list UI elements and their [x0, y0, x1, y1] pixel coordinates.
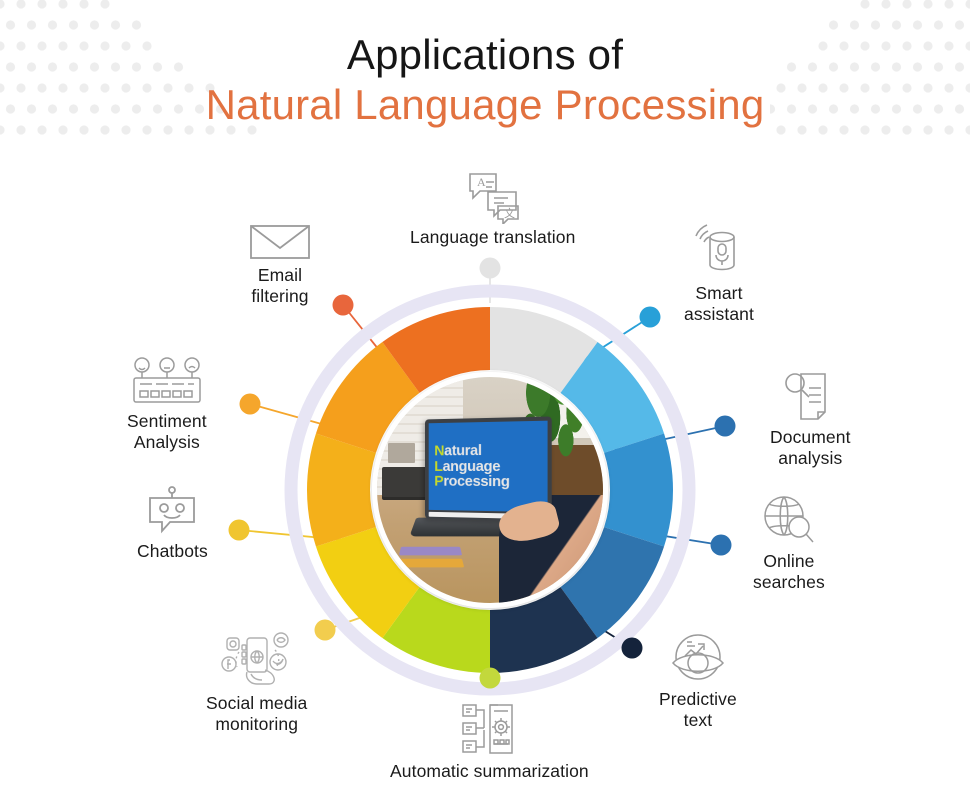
wheel-label-text-predictive-text: Predictive text [659, 689, 737, 732]
wheel-label-text-smart-assistant: Smart assistant [684, 283, 754, 326]
svg-text:文: 文 [504, 206, 515, 220]
globe-magnifier-icon [760, 494, 818, 548]
document-search-icon [781, 368, 839, 424]
translate-chat-icon: A 文 [462, 168, 524, 224]
donut-segment-chatbots [307, 433, 376, 546]
screen-line-1-rest: atural [444, 442, 482, 459]
connector-dot-email-filtering[interactable] [333, 295, 354, 316]
wheel-label-text-language-translation: Language translation [410, 227, 575, 248]
wheel-label-sentiment-analysis[interactable]: Sentiment Analysis [127, 356, 207, 454]
page-title: Applications of Natural Language Process… [0, 30, 970, 129]
connector-dot-online-searches[interactable] [711, 535, 732, 556]
connector-dot-smart-assistant[interactable] [640, 307, 661, 328]
wheel-label-text-online-searches: Online searches [753, 551, 825, 594]
wheel-label-text-sentiment-analysis: Sentiment Analysis [127, 411, 207, 454]
connector-dot-language-translation[interactable] [480, 258, 501, 279]
center-photo: Natural Language Processing [372, 372, 608, 608]
wheel-label-chatbots[interactable]: Chatbots [137, 484, 208, 562]
connector-dot-automatic-summarization[interactable] [480, 668, 501, 689]
wheel-label-text-email-filtering: Email filtering [251, 265, 308, 308]
envelope-icon [249, 222, 311, 262]
eye-trend-icon [667, 632, 729, 686]
screen-line-2-rest: anguage [443, 457, 501, 474]
wheel-label-text-chatbots: Chatbots [137, 541, 208, 562]
wheel-label-online-searches[interactable]: Online searches [753, 494, 825, 594]
wheel-label-email-filtering[interactable]: Email filtering [249, 222, 311, 308]
connector-dot-document-analysis[interactable] [715, 416, 736, 437]
robot-head-icon [142, 484, 202, 538]
connector-dot-sentiment-analysis[interactable] [240, 394, 261, 415]
connector-dot-chatbots[interactable] [229, 520, 250, 541]
wheel-label-text-document-analysis: Document analysis [770, 427, 851, 470]
screen-line-3-rest: rocessing [444, 473, 510, 490]
wheel-label-language-translation[interactable]: A 文 Language translation [410, 168, 575, 248]
wheel-label-smart-assistant[interactable]: Smart assistant [684, 222, 754, 326]
wheel-label-automatic-summarization[interactable]: Automatic summarization [390, 700, 589, 782]
wheel-label-social-media-monitoring[interactable]: Social media monitoring [206, 630, 307, 736]
wheel-label-text-automatic-summarization: Automatic summarization [390, 761, 589, 782]
wheel-label-document-analysis[interactable]: Document analysis [770, 368, 851, 470]
connector-dot-social-media-monitoring[interactable] [315, 620, 336, 641]
summarize-gear-icon [460, 700, 518, 758]
donut-segment-document-analysis [604, 433, 673, 546]
wheel-label-text-social-media-monitoring: Social media monitoring [206, 693, 307, 736]
title-line-1: Applications of [0, 30, 970, 80]
smart-speaker-mic-icon [692, 222, 746, 280]
emoji-keyboard-icon [128, 356, 206, 408]
infographic-canvas: Applications of Natural Language Process… [0, 0, 970, 803]
wheel-label-predictive-text[interactable]: Predictive text [659, 632, 737, 732]
connector-dot-predictive-text[interactable] [622, 638, 643, 659]
title-line-2: Natural Language Processing [0, 80, 970, 130]
svg-text:A: A [477, 175, 486, 189]
phone-social-hand-icon [221, 630, 293, 690]
